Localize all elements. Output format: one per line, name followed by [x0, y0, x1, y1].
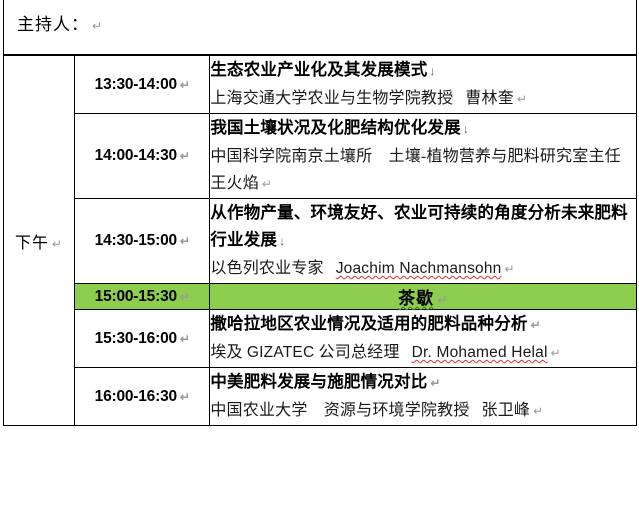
- table-row: 下午↵ 13:30-14:00↵ 生态农业产业化及其发展模式↓ 上海交通大学农业…: [4, 56, 637, 114]
- topic-title: 我国土壤状况及化肥结构优化发展↓: [210, 114, 636, 143]
- paragraph-mark-icon: ↵: [177, 332, 190, 346]
- table-row: 16:00-16:30↵ 中美肥料发展与施肥情况对比↵ 中国农业大学 资源与环境…: [4, 368, 637, 426]
- time-label: 16:00-16:30: [95, 388, 177, 405]
- line-break-mark-icon: ↓: [427, 64, 435, 78]
- topic-title: 生态农业产业化及其发展模式↓: [210, 56, 636, 85]
- time-cell: 15:00-15:30↵: [75, 284, 210, 310]
- topic-speaker: 中国科学院南京土壤所 土壤-植物营养与肥料研究室主任王火焰↵: [210, 143, 636, 198]
- topic-title-text: 我国土壤状况及化肥结构优化发展: [210, 118, 461, 137]
- topic-title-text: 从作物产量、环境友好、农业可持续的角度分析未来肥料行业发展: [210, 203, 628, 249]
- topic-cell-break: 茶歇↵: [210, 284, 637, 310]
- topic-title: 从作物产量、环境友好、农业可持续的角度分析未来肥料行业发展↓: [210, 199, 636, 255]
- paragraph-mark-icon: ↵: [177, 78, 190, 92]
- time-label: 14:00-14:30: [95, 147, 177, 164]
- schedule-table: 下午↵ 13:30-14:00↵ 生态农业产业化及其发展模式↓ 上海交通大学农业…: [3, 55, 637, 426]
- time-cell: 14:30-15:00↵: [75, 199, 210, 284]
- time-cell: 14:00-14:30↵: [75, 114, 210, 199]
- paragraph-mark-icon: ↵: [530, 404, 543, 418]
- paragraph-mark-icon: ↵: [89, 19, 103, 33]
- speaker-org: 上海交通大学农业与生物学院教授: [210, 90, 453, 107]
- time-cell: 16:00-16:30↵: [75, 368, 210, 426]
- period-cell-afternoon: 下午↵: [4, 56, 75, 426]
- period-label: 下午: [15, 235, 49, 252]
- topic-title-text: 生态农业产业化及其发展模式: [210, 60, 427, 79]
- topic-cell: 生态农业产业化及其发展模式↓ 上海交通大学农业与生物学院教授曹林奎↵: [210, 56, 637, 114]
- speaker-name: 张卫峰: [482, 402, 531, 419]
- speaker-org: 中国科学院南京土壤所 土壤-植物营养与肥料研究室主任: [210, 148, 621, 165]
- document-page: 主持人：↵ 下午↵ 13:30-14:00↵ 生态农业产业化及其发展模式↓: [0, 0, 639, 517]
- paragraph-mark-icon: ↵: [434, 293, 448, 307]
- topic-speaker: 以色列农业专家Joachim Nachmansohn↵: [210, 255, 636, 283]
- speaker-name: 王火焰: [210, 175, 259, 192]
- paragraph-mark-icon: ↵: [259, 177, 272, 191]
- speaker-org-prefix: 埃及: [210, 344, 242, 361]
- speaker-name-latin: Dr. Mohamed Helal: [412, 344, 548, 361]
- time-label: 15:30-16:00: [95, 330, 177, 347]
- table-row: 14:00-14:30↵ 我国土壤状况及化肥结构优化发展↓ 中国科学院南京土壤所…: [4, 114, 637, 199]
- speaker-org-latin: GIZATEC: [247, 344, 314, 361]
- line-break-mark-icon: ↓: [461, 122, 469, 136]
- paragraph-mark-icon: ↵: [177, 149, 190, 163]
- time-label: 15:00-15:30: [95, 288, 177, 305]
- paragraph-mark-icon: ↵: [514, 92, 527, 106]
- topic-speaker: 中国农业大学 资源与环境学院教授张卫峰↵: [210, 397, 636, 425]
- paragraph-mark-icon: ↵: [177, 234, 190, 248]
- paragraph-mark-icon: ↵: [528, 318, 541, 332]
- break-label: 茶歇↵: [210, 284, 636, 309]
- host-label-text: 主持人：: [17, 15, 89, 34]
- speaker-name-latin: Joachim Nachmansohn: [336, 260, 502, 277]
- topic-title-text: 撒哈拉地区农业情况及适用的肥料品种分析: [210, 314, 527, 333]
- topic-title-text: 中美肥料发展与施肥情况对比: [210, 372, 427, 391]
- paragraph-mark-icon: ↵: [548, 346, 561, 360]
- time-cell: 15:30-16:00↵: [75, 310, 210, 368]
- paragraph-mark-icon: ↵: [49, 237, 63, 251]
- topic-speaker: 上海交通大学农业与生物学院教授曹林奎↵: [210, 85, 636, 113]
- topic-cell: 从作物产量、环境友好、农业可持续的角度分析未来肥料行业发展↓ 以色列农业专家Jo…: [210, 199, 637, 284]
- table-row-break: 15:00-15:30↵ 茶歇↵: [4, 284, 637, 310]
- topic-cell: 我国土壤状况及化肥结构优化发展↓ 中国科学院南京土壤所 土壤-植物营养与肥料研究…: [210, 114, 637, 199]
- topic-cell: 中美肥料发展与施肥情况对比↵ 中国农业大学 资源与环境学院教授张卫峰↵: [210, 368, 637, 426]
- paragraph-mark-icon: ↵: [502, 262, 515, 276]
- table-row: 14:30-15:00↵ 从作物产量、环境友好、农业可持续的角度分析未来肥料行业…: [4, 199, 637, 284]
- time-cell: 13:30-14:00↵: [75, 56, 210, 114]
- host-header-band: 主持人：↵: [3, 0, 637, 55]
- speaker-org-suffix: 公司总经理: [319, 344, 400, 361]
- line-break-mark-icon: ↓: [277, 234, 285, 248]
- speaker-org: 以色列农业专家: [210, 260, 323, 277]
- break-label-text: 茶歇: [398, 289, 434, 308]
- paragraph-mark-icon: ↵: [177, 290, 190, 304]
- speaker-org: 中国农业大学 资源与环境学院教授: [210, 402, 469, 419]
- table-row: 15:30-16:00↵ 撒哈拉地区农业情况及适用的肥料品种分析↵ 埃及 GIZ…: [4, 310, 637, 368]
- topic-speaker: 埃及 GIZATEC 公司总经理Dr. Mohamed Helal↵: [210, 339, 636, 367]
- topic-title: 中美肥料发展与施肥情况对比↵: [210, 368, 636, 397]
- paragraph-mark-icon: ↵: [427, 376, 440, 390]
- speaker-name: 曹林奎: [465, 90, 514, 107]
- time-label: 13:30-14:00: [95, 76, 177, 93]
- time-label: 14:30-15:00: [95, 232, 177, 249]
- topic-cell: 撒哈拉地区农业情况及适用的肥料品种分析↵ 埃及 GIZATEC 公司总经理Dr.…: [210, 310, 637, 368]
- topic-title: 撒哈拉地区农业情况及适用的肥料品种分析↵: [210, 310, 636, 339]
- paragraph-mark-icon: ↵: [177, 390, 190, 404]
- host-label-line: 主持人：↵: [17, 14, 103, 37]
